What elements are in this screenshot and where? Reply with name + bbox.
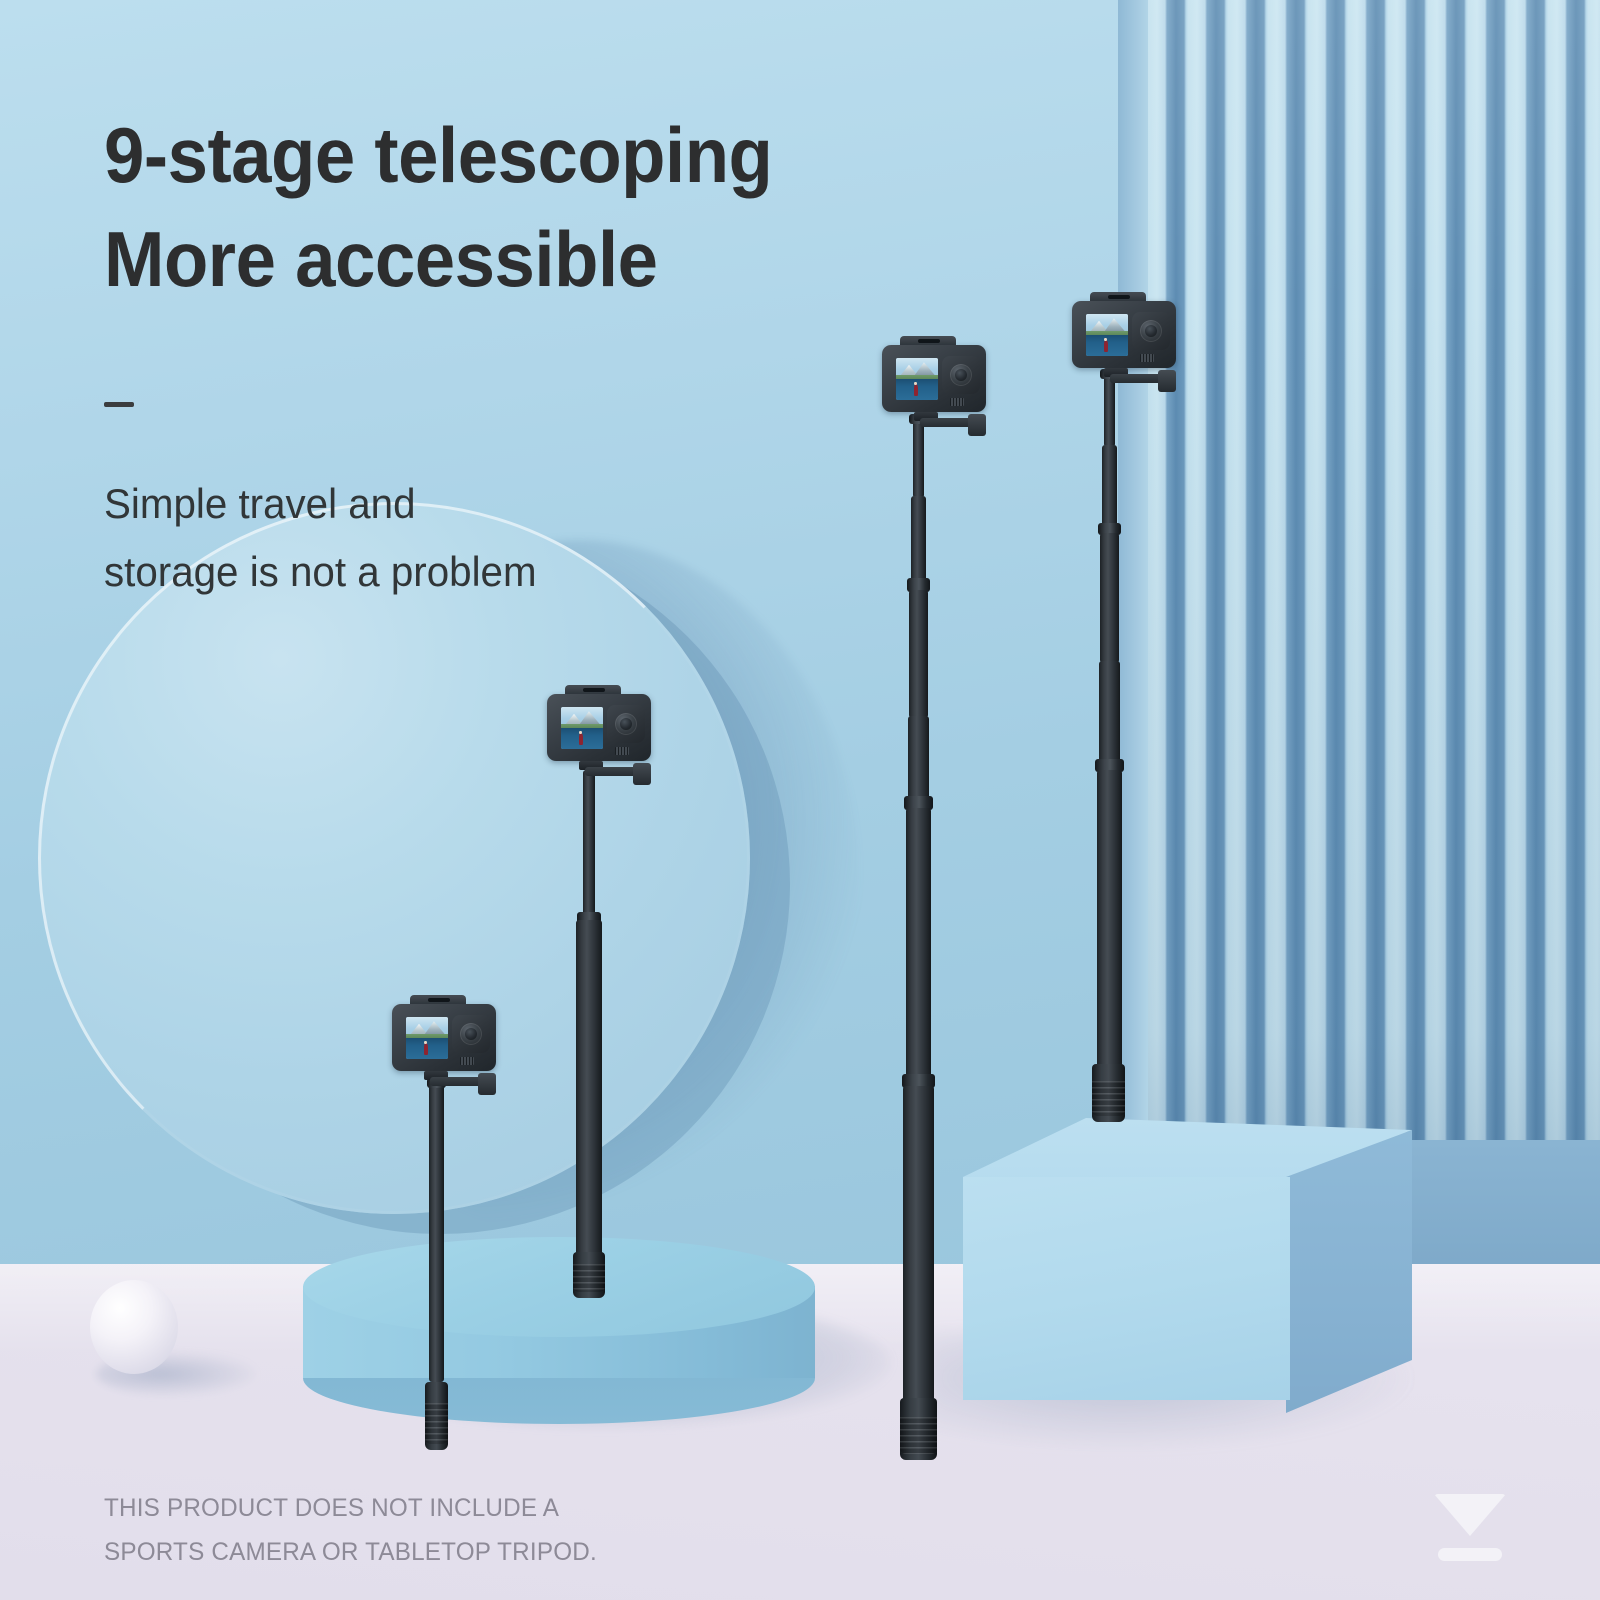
camera-mount-knob bbox=[633, 763, 651, 785]
camera-speaker-grill bbox=[615, 747, 629, 755]
camera-front-screen bbox=[561, 707, 603, 749]
pole-segment bbox=[903, 1086, 934, 1414]
pole-segment bbox=[576, 920, 602, 1272]
camera-lens bbox=[465, 1028, 477, 1040]
decorative-sphere bbox=[90, 1280, 178, 1374]
disclaimer-text: THIS PRODUCT DOES NOT INCLUDE A SPORTS C… bbox=[104, 1487, 705, 1574]
action-camera[interactable] bbox=[878, 336, 990, 432]
circular-backdrop-rim bbox=[38, 502, 750, 1214]
pole-segment bbox=[1099, 661, 1120, 765]
screen-figure bbox=[424, 1043, 428, 1055]
pole-segment bbox=[429, 1082, 444, 1382]
pole-segment bbox=[1100, 533, 1119, 663]
camera-mount-knob bbox=[968, 414, 986, 436]
headline: 9-stage telescoping More accessible bbox=[104, 104, 1034, 311]
pole-segment bbox=[1102, 445, 1117, 529]
camera-top-slot bbox=[1108, 295, 1130, 299]
pole-segment bbox=[1097, 770, 1122, 1070]
headline-divider bbox=[104, 402, 134, 407]
panel-edge bbox=[1118, 0, 1152, 1176]
box-podium-front bbox=[963, 1177, 1290, 1400]
screen-figure bbox=[1104, 340, 1108, 352]
camera-front-screen bbox=[406, 1017, 448, 1059]
indicator-bar bbox=[1438, 1548, 1502, 1561]
screen-figure bbox=[579, 733, 583, 745]
pole-segment bbox=[909, 590, 928, 718]
camera-mount-knob bbox=[478, 1073, 496, 1095]
pole-foot bbox=[573, 1252, 605, 1298]
camera-top-slot bbox=[428, 998, 450, 1002]
camera-front-screen bbox=[896, 358, 938, 400]
camera-lens bbox=[955, 369, 967, 381]
action-camera[interactable] bbox=[543, 685, 655, 781]
camera-mount-knob bbox=[1158, 370, 1176, 392]
slat-panel-shading bbox=[1148, 0, 1600, 1176]
pole-foot bbox=[900, 1398, 937, 1460]
screen-figure bbox=[914, 384, 918, 396]
camera-top-slot bbox=[583, 688, 605, 692]
pole-segment bbox=[583, 770, 595, 918]
camera-speaker-grill bbox=[950, 398, 964, 406]
action-camera[interactable] bbox=[388, 995, 500, 1091]
subheadline: Simple travel and storage is not a probl… bbox=[104, 470, 718, 606]
scroll-down-indicator[interactable] bbox=[1428, 1494, 1512, 1568]
cylinder-podium-top bbox=[303, 1237, 815, 1337]
camera-front-screen bbox=[1086, 314, 1128, 356]
pole-foot bbox=[1092, 1064, 1125, 1122]
pole-foot bbox=[425, 1382, 448, 1450]
pole-segment bbox=[908, 716, 929, 802]
camera-top-slot bbox=[918, 339, 940, 343]
product-feature-banner: 9-stage telescoping More accessible Simp… bbox=[0, 0, 1600, 1600]
camera-speaker-grill bbox=[460, 1057, 474, 1065]
camera-lens bbox=[620, 718, 632, 730]
camera-speaker-grill bbox=[1140, 354, 1154, 362]
pole-segment bbox=[911, 496, 926, 584]
action-camera[interactable] bbox=[1068, 292, 1180, 388]
pole-segment bbox=[906, 808, 931, 1080]
camera-lens bbox=[1145, 325, 1157, 337]
triangle-down-icon bbox=[1434, 1494, 1506, 1536]
